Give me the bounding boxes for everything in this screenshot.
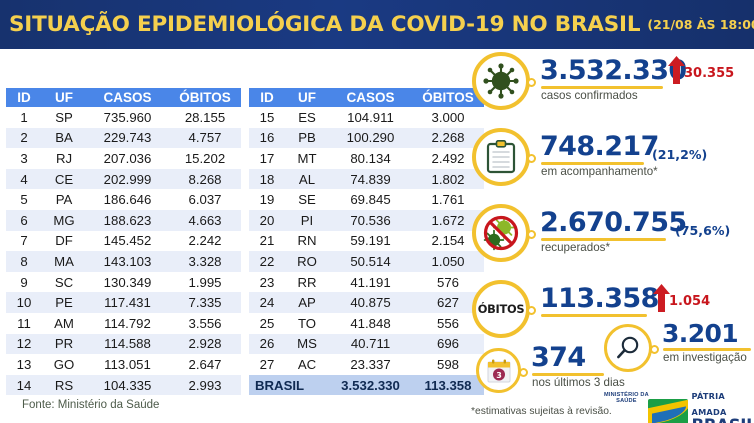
deaths-delta: 1.054: [669, 294, 710, 309]
table-body-left: 1SP735.96028.1552BA229.7434.7573RJ207.03…: [6, 107, 241, 395]
cell-id: 26: [249, 334, 285, 355]
cell-id: 23: [249, 272, 285, 293]
table-row: 20PI70.5361.672: [249, 210, 484, 231]
cell-uf: MG: [42, 210, 86, 231]
last-three-days-caption: nos últimos 3 dias: [532, 376, 625, 389]
cell-id: 24: [249, 292, 285, 313]
cell-casos: 100.290: [329, 128, 412, 149]
deaths-badge-icon: ÓBITOS: [472, 280, 530, 338]
patria-amada-label: PÁTRIA AMADA: [692, 391, 727, 417]
brasil-logo-text: PÁTRIA AMADA BRASIL GOVERNO FEDERAL: [692, 387, 754, 423]
deaths-badge-label: ÓBITOS: [478, 302, 524, 316]
cell-id: 3: [6, 148, 42, 169]
cell-uf: CE: [42, 169, 86, 190]
cell-uf: PA: [42, 189, 86, 210]
cell-casos: 41.191: [329, 272, 412, 293]
column-header-obitos: ÓBITOS: [169, 88, 241, 107]
table-row: 14RS104.3352.993: [6, 375, 241, 396]
table-body-right: 15ES104.9113.00016PB100.2902.26817MT80.1…: [249, 107, 484, 395]
table-row: 11AM114.7923.556: [6, 313, 241, 334]
cell-casos: 114.588: [86, 334, 169, 355]
table-row: 22RO50.5141.050: [249, 251, 484, 272]
cell-obitos: 6.037: [169, 189, 241, 210]
cell-uf: GO: [42, 354, 86, 375]
connector-dot: [527, 78, 536, 87]
cell-casos: 202.999: [86, 169, 169, 190]
cell-obitos: 2.928: [169, 334, 241, 355]
cell-casos: 114.792: [86, 313, 169, 334]
connector-dot: [527, 306, 536, 315]
cell-casos: 40.875: [329, 292, 412, 313]
cell-id: 19: [249, 189, 285, 210]
table-row: 8MA143.1033.328: [6, 251, 241, 272]
cell-casos: 69.845: [329, 189, 412, 210]
confirmed-cases-value: 3.532.330: [540, 55, 687, 86]
arrow-up-icon: [653, 284, 670, 312]
cell-casos: 130.349: [86, 272, 169, 293]
table-row: 5PA186.6466.037: [6, 189, 241, 210]
header-banner: SITUAÇÃO EPIDEMIOLÓGICA DA COVID-19 NO B…: [0, 0, 754, 49]
connector-dot: [519, 368, 528, 377]
cell-id: 2: [6, 128, 42, 149]
cell-uf: PB: [285, 128, 329, 149]
table-row: 6MG188.6234.663: [6, 210, 241, 231]
cell-uf: MA: [42, 251, 86, 272]
clipboard-icon: [486, 140, 516, 174]
monitoring-caption: em acompanhamento*: [541, 165, 658, 178]
footnote: *estimativas sujeitas à revisão.: [471, 406, 612, 417]
investigation-caption: em investigação: [663, 351, 747, 364]
magnifier-icon-badge: [604, 324, 652, 372]
cell-uf: SC: [42, 272, 86, 293]
virus-icon: [483, 63, 519, 99]
cell-obitos: 2.993: [169, 375, 241, 396]
cell-casos: 143.103: [86, 251, 169, 272]
underline-rule: [541, 314, 647, 317]
cell-uf: SP: [42, 107, 86, 128]
cell-uf: RN: [285, 231, 329, 252]
cell-casos: 117.431: [86, 292, 169, 313]
cell-uf: AM: [42, 313, 86, 334]
cell-obitos: 2.647: [169, 354, 241, 375]
brasil-flag-icon: [648, 399, 688, 423]
cell-id: 1: [6, 107, 42, 128]
cell-id: 5: [6, 189, 42, 210]
cell-casos: 74.839: [329, 169, 412, 190]
recovered-caption: recuperados*: [541, 241, 610, 254]
table-row: 13GO113.0512.647: [6, 354, 241, 375]
cell-uf: PI: [285, 210, 329, 231]
cell-obitos: 4.757: [169, 128, 241, 149]
cell-uf: RS: [42, 375, 86, 396]
source-note: Fonte: Ministério da Saúde: [22, 399, 159, 411]
cell-uf: AP: [285, 292, 329, 313]
table-row: 2BA229.7434.757: [6, 128, 241, 149]
calendar-icon: 3: [486, 358, 512, 384]
cell-uf: SE: [285, 189, 329, 210]
table-row: 18AL74.8391.802: [249, 169, 484, 190]
table-row: 7DF145.4522.242: [6, 231, 241, 252]
monitoring-value: 748.217: [540, 131, 659, 162]
table-row: 19SE69.8451.761: [249, 189, 484, 210]
cell-casos: 188.623: [86, 210, 169, 231]
cell-obitos: 1.995: [169, 272, 241, 293]
calendar-icon-badge: 3: [476, 348, 521, 393]
cell-uf: ES: [285, 107, 329, 128]
state-table-left: ID UF CASOS ÓBITOS 1SP735.96028.1552BA22…: [6, 88, 241, 395]
cell-id: 20: [249, 210, 285, 231]
cell-casos: 186.646: [86, 189, 169, 210]
cell-casos: 70.536: [329, 210, 412, 231]
cell-casos: 113.051: [86, 354, 169, 375]
investigation-value: 3.201: [662, 319, 738, 348]
column-header-id: ID: [6, 88, 42, 107]
connector-dot: [527, 230, 536, 239]
table-row: 10PE117.4317.335: [6, 292, 241, 313]
cell-id: 21: [249, 231, 285, 252]
cell-casos: 50.514: [329, 251, 412, 272]
column-header-casos: CASOS: [329, 88, 412, 107]
calendar-badge-number: 3: [496, 371, 502, 380]
cell-id: 12: [6, 334, 42, 355]
cell-uf: RJ: [42, 148, 86, 169]
cell-id: 10: [6, 292, 42, 313]
cell-uf: RR: [285, 272, 329, 293]
government-brasil-logo: PÁTRIA AMADA BRASIL GOVERNO FEDERAL: [648, 387, 754, 423]
table-row: 27AC23.337598: [249, 354, 484, 375]
cell-casos: 41.848: [329, 313, 412, 334]
monitoring-percent: (21,2%): [652, 147, 707, 162]
cell-uf: AC: [285, 354, 329, 375]
connector-dot: [650, 345, 659, 354]
cell-casos: 229.743: [86, 128, 169, 149]
state-table-right: ID UF CASOS ÓBITOS 15ES104.9113.00016PB1…: [249, 88, 484, 395]
magnifier-icon: [615, 335, 641, 361]
cell-id: 22: [249, 251, 285, 272]
cell-id: 14: [6, 375, 42, 396]
confirmed-cases-delta: 30.355: [684, 66, 734, 81]
table-row: 17MT80.1342.492: [249, 148, 484, 169]
cell-id: 13: [6, 354, 42, 375]
cell-casos: 207.036: [86, 148, 169, 169]
cell-uf: MS: [285, 334, 329, 355]
table-row: 12PR114.5882.928: [6, 334, 241, 355]
cell-obitos: 7.335: [169, 292, 241, 313]
cell-uf: DF: [42, 231, 86, 252]
cell-id: 25: [249, 313, 285, 334]
table-header-row: ID UF CASOS ÓBITOS: [6, 88, 241, 107]
cell-casos: 59.191: [329, 231, 412, 252]
cell-uf: AL: [285, 169, 329, 190]
cell-obitos: 3.328: [169, 251, 241, 272]
table-row: 25TO41.848556: [249, 313, 484, 334]
last-three-days-value: 374: [531, 342, 586, 373]
table-row: 4CE202.9998.268: [6, 169, 241, 190]
cell-id: 8: [6, 251, 42, 272]
cell-id: 6: [6, 210, 42, 231]
confirmed-cases-caption: casos confirmados: [541, 89, 638, 102]
stats-panel: 3.532.330 casos confirmados 30.355: [472, 52, 754, 423]
table-row: 16PB100.2902.268: [249, 128, 484, 149]
total-label: BRASIL: [249, 375, 329, 396]
column-header-id: ID: [249, 88, 285, 107]
clipboard-icon-badge: [472, 128, 530, 186]
cell-id: 7: [6, 231, 42, 252]
column-header-uf: UF: [285, 88, 329, 107]
table-row: 21RN59.1912.154: [249, 231, 484, 252]
header-datetime: (21/08 ÀS 18:00H): [647, 17, 754, 32]
cell-obitos: 4.663: [169, 210, 241, 231]
virus-icon-badge: [472, 52, 530, 110]
cell-obitos: 2.242: [169, 231, 241, 252]
table-row: 3RJ207.03615.202: [6, 148, 241, 169]
cell-obitos: 28.155: [169, 107, 241, 128]
cell-id: 16: [249, 128, 285, 149]
cell-id: 18: [249, 169, 285, 190]
cell-obitos: 3.556: [169, 313, 241, 334]
column-header-uf: UF: [42, 88, 86, 107]
cell-casos: 735.960: [86, 107, 169, 128]
ministry-of-health-logo: MINISTÉRIO DA SAÚDE: [604, 393, 649, 405]
brasil-label: BRASIL: [692, 418, 754, 423]
table-row: 24AP40.875627: [249, 292, 484, 313]
cell-uf: TO: [285, 313, 329, 334]
state-tables: ID UF CASOS ÓBITOS 1SP735.96028.1552BA22…: [6, 88, 484, 395]
cell-id: 9: [6, 272, 42, 293]
cell-id: 4: [6, 169, 42, 190]
cell-uf: MT: [285, 148, 329, 169]
table-header-row: ID UF CASOS ÓBITOS: [249, 88, 484, 107]
cell-id: 11: [6, 313, 42, 334]
cell-casos: 104.335: [86, 375, 169, 396]
cell-casos: 23.337: [329, 354, 412, 375]
table-total-row: BRASIL3.532.330113.358: [249, 375, 484, 396]
cell-uf: PE: [42, 292, 86, 313]
connector-dot: [527, 154, 536, 163]
cell-casos: 145.452: [86, 231, 169, 252]
cell-uf: RO: [285, 251, 329, 272]
table-row: 23RR41.191576: [249, 272, 484, 293]
page-title: SITUAÇÃO EPIDEMIOLÓGICA DA COVID-19 NO B…: [9, 12, 640, 37]
cell-casos: 80.134: [329, 148, 412, 169]
arrow-up-icon: [668, 56, 685, 84]
no-virus-icon-badge: [472, 204, 530, 262]
cell-uf: PR: [42, 334, 86, 355]
deaths-value: 113.358: [540, 283, 659, 314]
cell-obitos: 15.202: [169, 148, 241, 169]
cell-uf: BA: [42, 128, 86, 149]
recovered-percent: (75,6%): [675, 223, 730, 238]
cell-obitos: 8.268: [169, 169, 241, 190]
cell-id: 27: [249, 354, 285, 375]
no-virus-icon: [481, 214, 521, 252]
table-row: 1SP735.96028.155: [6, 107, 241, 128]
total-casos: 3.532.330: [329, 375, 412, 396]
infographic-root: SITUAÇÃO EPIDEMIOLÓGICA DA COVID-19 NO B…: [0, 0, 754, 423]
cell-id: 17: [249, 148, 285, 169]
table-row: 26MS40.711696: [249, 334, 484, 355]
cell-id: 15: [249, 107, 285, 128]
cell-casos: 104.911: [329, 107, 412, 128]
recovered-value: 2.670.755: [540, 207, 687, 238]
table-row: 15ES104.9113.000: [249, 107, 484, 128]
ministry-logo-line2: SAÚDE: [604, 399, 649, 405]
column-header-casos: CASOS: [86, 88, 169, 107]
table-row: 9SC130.3491.995: [6, 272, 241, 293]
cell-casos: 40.711: [329, 334, 412, 355]
